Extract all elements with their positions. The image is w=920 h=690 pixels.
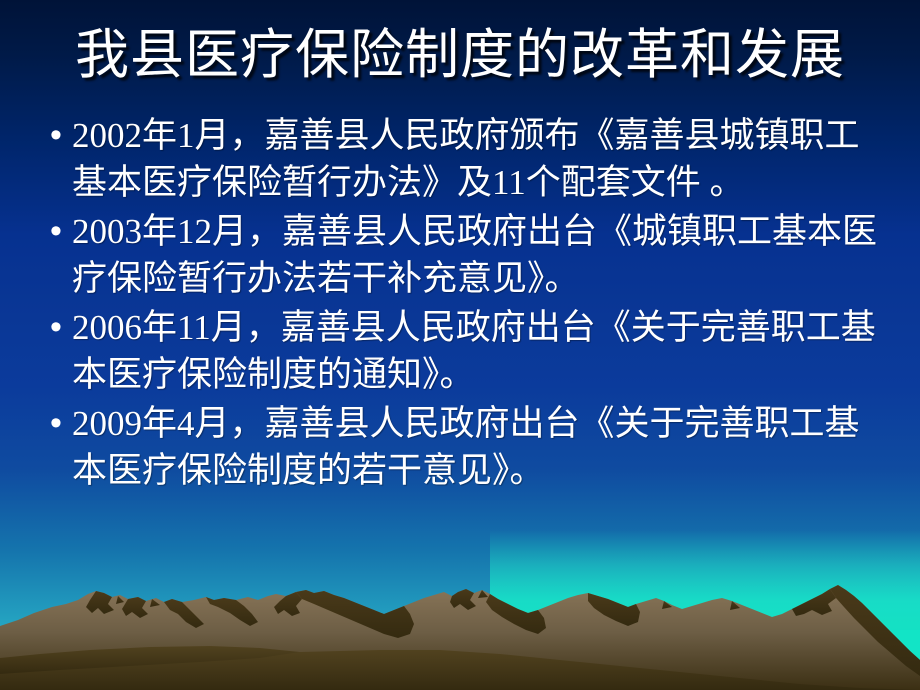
bullet-text: 2009年4月，嘉善县人民政府出台《关于完善职工基本医疗保险制度的若干意见》。 xyxy=(72,400,882,494)
bullet-item: • 2003年12月，嘉善县人民政府出台《城镇职工基本医疗保险暂行办法若干补充意… xyxy=(44,208,882,302)
turquoise-glow xyxy=(490,530,920,690)
bullet-item: • 2006年11月，嘉善县人民政府出台《关于完善职工基本医疗保险制度的通知》。 xyxy=(44,304,882,398)
bullet-text: 2003年12月，嘉善县人民政府出台《城镇职工基本医疗保险暂行办法若干补充意见》… xyxy=(72,208,882,302)
turquoise-glow-band xyxy=(0,630,920,690)
slide-title: 我县医疗保险制度的改革和发展 xyxy=(0,24,920,86)
bullet-item: • 2009年4月，嘉善县人民政府出台《关于完善职工基本医疗保险制度的若干意见》… xyxy=(44,400,882,494)
bullet-marker-icon: • xyxy=(44,304,72,351)
bullet-item: • 2002年1月，嘉善县人民政府颁布《嘉善县城镇职工基本医疗保险暂行办法》及1… xyxy=(44,112,882,206)
presentation-slide: 我县医疗保险制度的改革和发展 • 2002年1月，嘉善县人民政府颁布《嘉善县城镇… xyxy=(0,0,920,690)
bullet-marker-icon: • xyxy=(44,208,72,255)
bullet-text: 2006年11月，嘉善县人民政府出台《关于完善职工基本医疗保险制度的通知》。 xyxy=(72,304,882,398)
bullet-marker-icon: • xyxy=(44,112,72,159)
mountain-range-icon xyxy=(0,580,920,690)
bullet-text: 2002年1月，嘉善县人民政府颁布《嘉善县城镇职工基本医疗保险暂行办法》及11个… xyxy=(72,112,882,206)
bullet-marker-icon: • xyxy=(44,400,72,447)
slide-body: • 2002年1月，嘉善县人民政府颁布《嘉善县城镇职工基本医疗保险暂行办法》及1… xyxy=(44,112,882,496)
